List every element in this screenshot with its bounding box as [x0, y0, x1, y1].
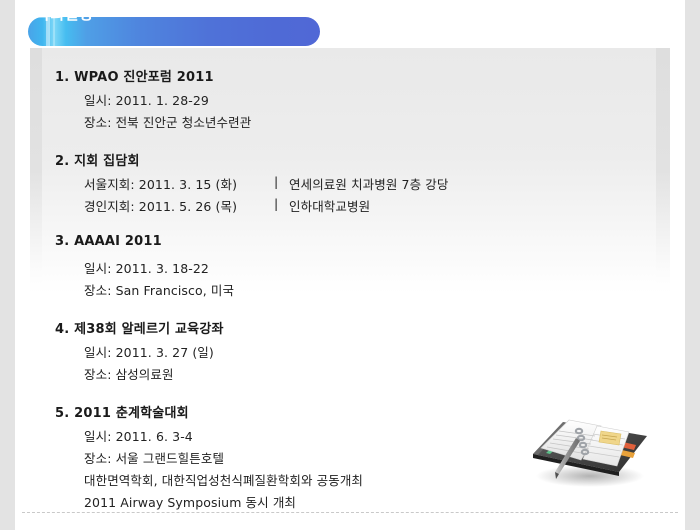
schedule-line-text: 일시: 2011. 6. 3-4 [84, 429, 193, 444]
schedule-item-line: 대한면역학회, 대한직업성천식폐질환학회와 공동개최 [84, 470, 363, 489]
schedule-item-line: 경인지회: 2011. 5. 26 (목)|인하대학교병원 [84, 196, 237, 215]
schedule-item-line: 2011 Airway Symposium 동시 개최 [84, 492, 296, 511]
schedule-item-line: 일시: 2011. 6. 3-4 [84, 426, 193, 445]
schedule-line-text: 일시: 2011. 3. 18-22 [84, 261, 209, 276]
schedule-line-venue: 인하대학교병원 [289, 196, 370, 215]
schedule-item-title: 3. AAAAI 2011 [55, 234, 162, 249]
schedule-item-line: 장소: 삼성의료원 [84, 364, 174, 383]
schedule-item-line: 일시: 2011. 3. 18-22 [84, 258, 209, 277]
schedule-line-venue: 연세의료원 치과병원 7층 강당 [289, 174, 448, 193]
content-panel-left-edge [30, 48, 42, 293]
schedule-item-title: 1. WPAO 진안포럼 2011 [55, 66, 214, 85]
schedule-line-text: 대한면역학회, 대한직업성천식폐질환학회와 공동개최 [84, 473, 363, 488]
schedule-line-text: 장소: San Francisco, 미국 [84, 283, 234, 298]
schedule-item-line: 장소: 전북 진안군 청소년수련관 [84, 112, 251, 131]
schedule-item-line: 장소: 서울 그랜드힐튼호텔 [84, 448, 224, 467]
schedule-line-text: 장소: 삼성의료원 [84, 367, 174, 382]
schedule-line-text: 일시: 2011. 3. 27 (일) [84, 345, 214, 360]
schedule-item-line: 장소: San Francisco, 미국 [84, 280, 234, 299]
schedule-line-text: 서울지회: 2011. 3. 15 (화) [84, 177, 237, 192]
planner-organizer-icon [519, 396, 661, 492]
schedule-line-text: 2011 Airway Symposium 동시 개최 [84, 495, 296, 510]
schedule-item-title: 2. 지회 집담회 [55, 150, 140, 169]
page-background: 학회일정 1. WPAO 진안포럼 2011일시: 2011. 1. 28-29… [0, 0, 700, 530]
footer-divider [22, 512, 678, 513]
schedule-line-text: 장소: 서울 그랜드힐튼호텔 [84, 451, 224, 466]
schedule-line-text: 경인지회: 2011. 5. 26 (목) [84, 199, 237, 214]
schedule-line-separator: | [274, 196, 278, 211]
schedule-item-title: 4. 제38회 알레르기 교육강좌 [55, 318, 224, 337]
schedule-item-line: 서울지회: 2011. 3. 15 (화)|연세의료원 치과병원 7층 강당 [84, 174, 237, 193]
content-panel-right-edge [656, 48, 670, 293]
schedule-line-separator: | [274, 174, 278, 189]
schedule-item-title: 5. 2011 춘계학술대회 [55, 402, 189, 421]
schedule-item-line: 일시: 2011. 3. 27 (일) [84, 342, 214, 361]
schedule-line-text: 일시: 2011. 1. 28-29 [84, 93, 209, 108]
schedule-item-line: 일시: 2011. 1. 28-29 [84, 90, 209, 109]
page-title: 학회일정 [36, 0, 93, 29]
schedule-line-text: 장소: 전북 진안군 청소년수련관 [84, 115, 251, 130]
